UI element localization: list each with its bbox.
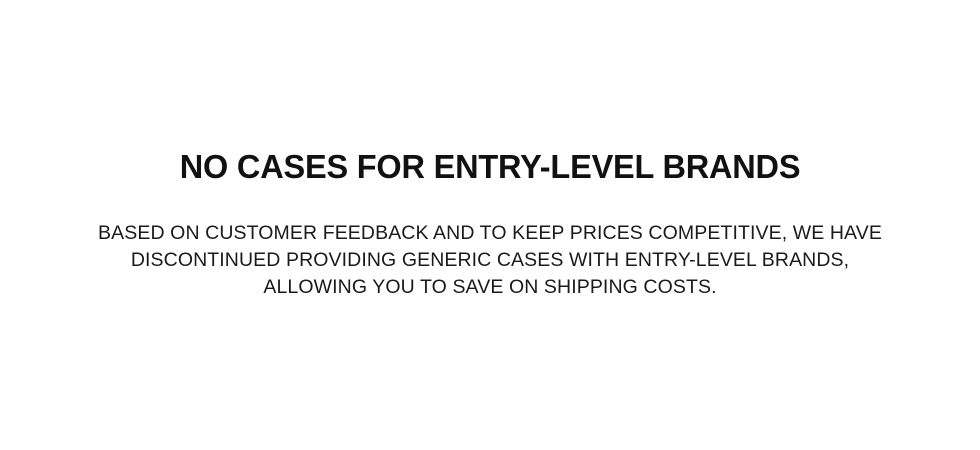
promo-banner: NO CASES FOR ENTRY-LEVEL BRANDS BASED ON…	[0, 0, 980, 450]
page-title: NO CASES FOR ENTRY-LEVEL BRANDS	[180, 150, 801, 184]
promo-description: BASED ON CUSTOMER FEEDBACK AND TO KEEP P…	[90, 220, 890, 301]
